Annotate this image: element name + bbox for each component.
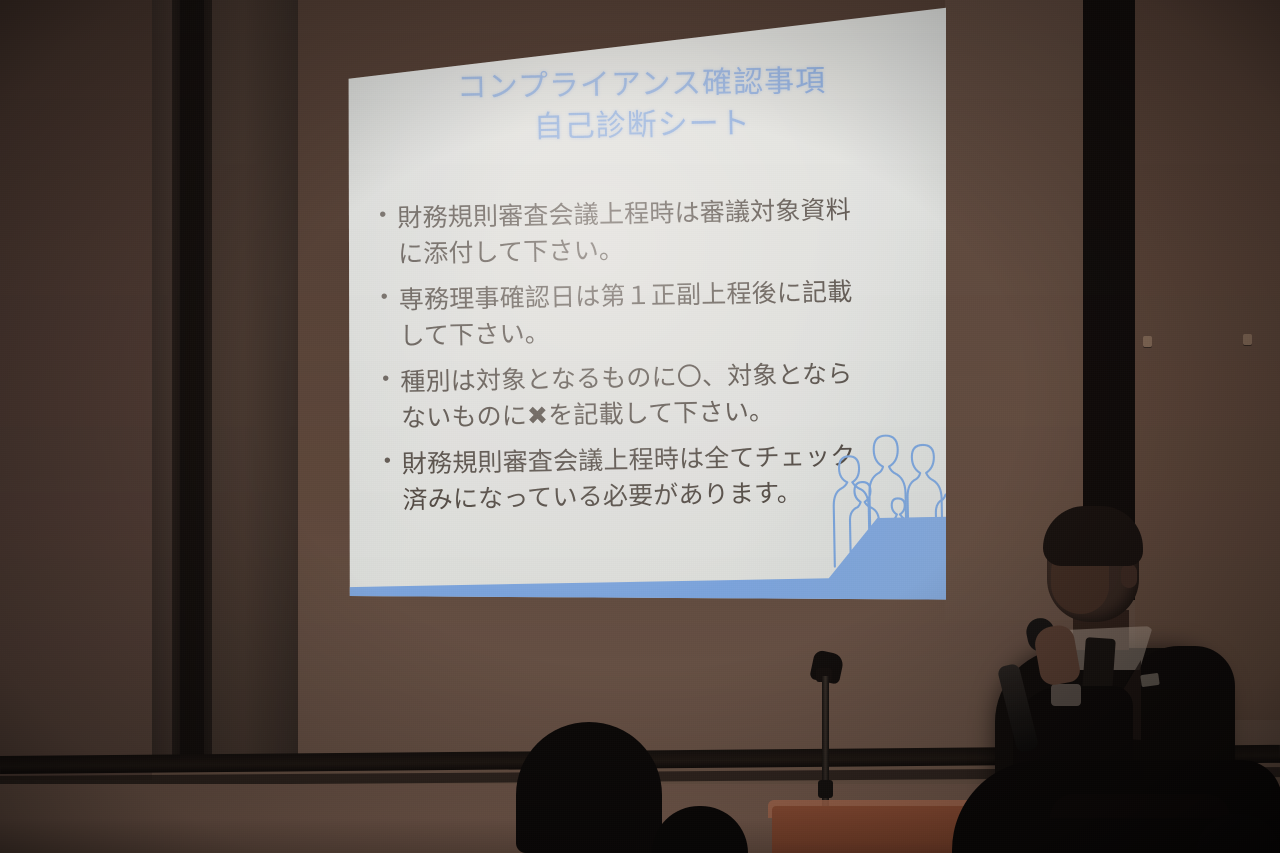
presenter-hair (1043, 506, 1143, 566)
curtain-left-dark-strip (180, 0, 204, 770)
bullet-text: 財務規則審査会議上程時は審議対象資料 に添付して下さい。 (397, 191, 921, 273)
wooden-lectern (772, 806, 972, 853)
list-item: • 財務規則審査会議上程時は審議対象資料 に添付して下さい。 (379, 191, 921, 273)
bullet-text: 専務理事確認日は第１正副上程後に記載 して下さい。 (399, 273, 923, 355)
wall-hook-icon (1243, 334, 1252, 345)
presentation-photo-scene: コンプライアンス確認事項 自己診断シート • 財務規則審査会議上程時は審議対象資… (0, 0, 1280, 853)
wall-hook-icon (1143, 336, 1152, 347)
presenter-shirt-cuff (1051, 684, 1081, 706)
presenter-ear (1121, 564, 1137, 588)
bullet-dot-icon: • (379, 201, 398, 231)
presenter-pocket-square (1140, 673, 1159, 687)
projected-slide: コンプライアンス確認事項 自己診断シート • 財務規則審査会議上程時は審議対象資… (345, 6, 946, 602)
slide-title: コンプライアンス確認事項 自己診断シート (345, 59, 943, 153)
list-item: • 専務理事確認日は第１正副上程後に記載 して下さい。 (381, 273, 923, 355)
projection-screen: コンプライアンス確認事項 自己診断シート • 財務規則審査会議上程時は審議対象資… (345, 6, 946, 602)
bullet-dot-icon: • (384, 446, 403, 476)
audience-head-silhouette (1050, 794, 1230, 818)
wall-left-panel (0, 0, 152, 780)
mic-stand-joint (818, 780, 833, 798)
bullet-dot-icon: • (381, 283, 400, 313)
bullet-dot-icon: • (382, 365, 401, 395)
